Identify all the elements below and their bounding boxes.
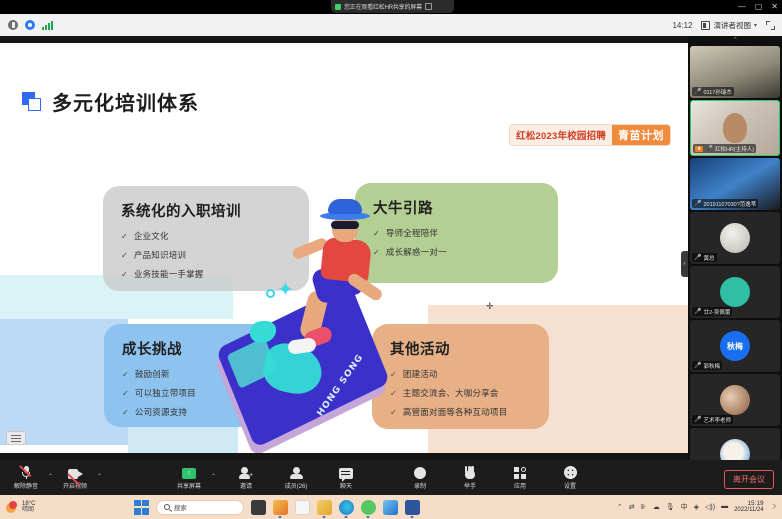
security-icon[interactable] <box>25 20 35 30</box>
participants-label: 成员(26) <box>285 481 308 490</box>
stop-share-icon[interactable] <box>425 3 432 10</box>
list-item-label: 鼓励创新 <box>135 368 170 380</box>
share-screen-icon <box>182 465 196 479</box>
participant-name-tag: 🎤 20191107030?范逸苇 <box>692 199 758 208</box>
list-item-label: 公司资源支持 <box>135 406 187 418</box>
page-title: 多元化培训体系 <box>52 87 199 116</box>
taskbar-center: 搜索 <box>134 500 420 515</box>
badge-program: 青苗计划 <box>612 125 670 145</box>
collapse-filmstrip-handle[interactable]: ‹ <box>681 251 688 277</box>
participant-name: 郭秋梅 <box>703 362 720 370</box>
chat-button[interactable]: 聊天 <box>326 465 366 490</box>
participant-name: 黄总 <box>703 254 714 262</box>
share-options-caret-icon[interactable]: ⌃ <box>211 473 216 490</box>
participant-tile[interactable]: 🎤 艺术李老师 <box>690 374 780 426</box>
windows-start-icon[interactable] <box>134 500 149 515</box>
maximize-button[interactable]: ▢ <box>755 3 763 11</box>
wechat-icon[interactable] <box>361 500 376 515</box>
taskview-icon[interactable] <box>251 500 266 515</box>
control-bar-center: 共享屏幕 ⌃ + 邀请 成员(26) 聊天 录制 <box>169 465 590 490</box>
participant-name-tag: 🎤 郭秋梅 <box>692 361 722 370</box>
card-activities-list: ✓团建活动 ✓主题交流会、大咖分享会 ✓高管面对面等各种互动项目 <box>390 368 531 418</box>
check-icon: ✓ <box>121 232 128 241</box>
circle-accent-icon <box>266 289 275 298</box>
chevron-down-icon: ▾ <box>754 22 757 29</box>
mic-muted-icon: 🎤 <box>694 88 701 95</box>
list-item: ✓团建活动 <box>390 368 531 380</box>
list-item-label: 可以独立带项目 <box>135 387 196 399</box>
apps-label: 应用 <box>514 481 526 490</box>
raise-hand-label: 举手 <box>464 481 476 490</box>
avatar-initials: 秋梅 <box>727 341 743 352</box>
chat-icon <box>339 465 353 479</box>
mic-muted-icon: 🎤 <box>694 362 701 369</box>
microsoft-store-icon[interactable] <box>273 500 288 515</box>
word-icon[interactable] <box>405 500 420 515</box>
mic-muted-icon: 🎤 <box>694 200 701 207</box>
mic-options-caret-icon[interactable]: ⌃ <box>48 473 53 490</box>
list-item: ✓高管面对面等各种互动项目 <box>390 406 531 418</box>
participant-name-tag: 🎤 黄总 <box>692 253 717 262</box>
edge-icon[interactable] <box>339 500 354 515</box>
list-item-label: 业务技能一手掌握 <box>134 268 204 280</box>
view-mode-selector[interactable]: 演讲者视图 ▾ <box>701 20 757 31</box>
raise-hand-icon <box>465 465 475 479</box>
record-label: 录制 <box>414 481 426 490</box>
volume-icon[interactable]: ◁)) <box>705 503 715 511</box>
mic-muted-icon: 🎤 <box>694 416 701 423</box>
participant-name: 红松HR(主持人) <box>715 145 754 153</box>
host-badge: ★ <box>695 146 703 152</box>
list-item: ✓主题交流会、大咖分享会 <box>390 387 531 399</box>
mute-button-label: 解除静音 <box>14 481 38 490</box>
participant-tile[interactable]: 🎤 廿2-吴佩蕾 <box>690 266 780 318</box>
minimize-button[interactable]: — <box>738 3 746 11</box>
participant-name: 0117孙瑞杰 <box>703 88 731 96</box>
settings-label: 设置 <box>564 481 576 490</box>
record-button[interactable]: 录制 <box>400 465 440 490</box>
participant-tile[interactable]: 🎤 116 ⌄ <box>690 428 780 460</box>
apps-icon <box>514 465 527 479</box>
invite-label: 邀请 <box>240 481 252 490</box>
presentation-slide: 多元化培训体系 红松2023年校园招聘 青苗计划 系统化的入职培训 ✓企业文化 … <box>0 43 688 453</box>
share-status-dot <box>335 4 341 10</box>
ime-chinese-icon[interactable]: 中 <box>681 502 688 512</box>
notepad-icon[interactable] <box>295 500 310 515</box>
participant-name-tag: ★ 🎤 红松HR(主持人) <box>693 144 756 153</box>
layout-icon <box>701 21 710 30</box>
meeting-elapsed-time: 14:12 <box>672 21 692 30</box>
share-screen-button[interactable]: 共享屏幕 <box>169 465 209 490</box>
record-icon <box>414 465 426 479</box>
squares-logo-icon <box>22 92 42 112</box>
fullscreen-icon[interactable] <box>766 21 775 30</box>
battery-icon[interactable]: ▬ <box>721 503 728 510</box>
meeting-control-bar: 解除静音 ⌃ 开启视频 ⌃ 共享屏幕 ⌃ + 邀请 <box>0 460 782 495</box>
screen-share-banner: 您正在观看红松HR共享的屏幕 <box>331 0 454 13</box>
window-controls: — ▢ ✕ <box>738 0 778 14</box>
participant-name: 艺术李老师 <box>703 416 731 424</box>
share-screen-label: 共享屏幕 <box>177 481 201 490</box>
search-placeholder: 搜索 <box>174 502 187 512</box>
list-item-label: 主题交流会、大咖分享会 <box>403 387 499 399</box>
view-mode-label: 演讲者视图 <box>713 20 751 31</box>
slide-notes-icon[interactable] <box>6 431 26 445</box>
control-bar-right: 离开会议 <box>724 469 782 487</box>
mic-muted-icon <box>22 465 30 479</box>
participants-button[interactable]: 成员(26) <box>276 465 316 490</box>
participant-name-tag: 🎤 0117孙瑞杰 <box>692 87 734 96</box>
participant-filmstrip[interactable]: ⌃ 🎤 0117孙瑞杰 ★ 🎤 红松HR(主持人) 🎤 20191107030?… <box>688 36 782 460</box>
surfer-character-icon <box>290 199 400 359</box>
participants-icon <box>290 465 303 479</box>
mic-muted-icon: 🎤 <box>694 308 701 315</box>
shield-icon[interactable] <box>8 20 18 30</box>
surfer-phone-illustration: HONG SONG ✦ <box>228 195 410 427</box>
check-icon: ✓ <box>122 370 129 379</box>
participant-name: 廿2-吴佩蕾 <box>703 308 730 316</box>
avatar <box>720 223 750 253</box>
invite-icon: + <box>239 465 253 479</box>
video-options-caret-icon[interactable]: ⌃ <box>97 473 102 490</box>
mute-button[interactable]: 解除静音 <box>6 465 46 490</box>
participant-name-tag: 🎤 廿2-吴佩蕾 <box>692 307 732 316</box>
windows-taskbar: 18°C 晴朗 搜索 ⌃ ⇄ ⊪ ☁ 🎙 中 ◈ <box>0 495 782 519</box>
invite-button[interactable]: + 邀请 <box>226 465 266 490</box>
check-icon: ✓ <box>121 270 128 279</box>
equalizer-icon[interactable]: ⇄ <box>629 503 635 511</box>
mic-icon[interactable]: 🎙 <box>666 503 675 511</box>
settings-gear-icon <box>564 465 577 479</box>
list-item-label: 产品知识培训 <box>134 249 186 261</box>
check-icon: ✓ <box>122 408 129 417</box>
topbar-right: 14:12 演讲者视图 ▾ <box>672 20 782 31</box>
mic-muted-icon: 🎤 <box>694 254 701 261</box>
meeting-top-bar: 14:12 演讲者视图 ▾ <box>0 14 782 36</box>
taskbar-clock[interactable]: 15:19 2022/11/24 <box>734 500 764 514</box>
list-item-label: 高管面对面等各种互动项目 <box>403 406 507 418</box>
check-icon: ✓ <box>121 251 128 260</box>
participant-name-tag: 🎤 艺术李老师 <box>692 415 733 424</box>
participant-name: 20191107030?范逸苇 <box>703 200 756 208</box>
avatar <box>723 113 747 143</box>
settings-button[interactable]: 设置 <box>550 465 590 490</box>
share-banner-text: 您正在观看红松HR共享的屏幕 <box>344 2 422 11</box>
mouse-cursor-icon: ✛ <box>486 301 494 312</box>
avatar: 秋梅 <box>720 331 750 361</box>
check-icon: ✓ <box>122 389 129 398</box>
search-icon <box>164 504 170 510</box>
list-item-label: 企业文化 <box>134 230 169 242</box>
card-activities-heading: 其他活动 <box>390 338 531 359</box>
network-signal-icon[interactable] <box>42 21 53 30</box>
avatar <box>720 439 750 460</box>
avatar <box>720 277 750 307</box>
wifi-icon[interactable]: ◈ <box>694 503 699 511</box>
participant-tile[interactable]: 秋梅 🎤 郭秋梅 <box>690 320 780 372</box>
video-button[interactable]: 开启视频 <box>55 465 95 490</box>
participant-tile[interactable]: 🎤 黄总 <box>690 212 780 264</box>
weather-text: 18°C 晴朗 <box>22 501 35 514</box>
participant-tile-active[interactable]: ★ 🎤 红松HR(主持人) <box>690 100 780 156</box>
clock-time: 15:19 <box>734 500 764 507</box>
system-tray: ⌃ ⇄ ⊪ ☁ 🎙 中 ◈ ◁)) ▬ 15:19 2022/11/24 ☽ <box>617 500 782 514</box>
filmstrip-scroll-up[interactable]: ⌃ <box>688 36 782 44</box>
topbar-left-icons <box>0 20 53 30</box>
file-explorer-icon[interactable] <box>317 500 332 515</box>
close-button[interactable]: ✕ <box>771 3 778 11</box>
photos-icon[interactable] <box>383 500 398 515</box>
weather-widget[interactable]: 18°C 晴朗 <box>0 501 35 514</box>
participant-tile[interactable]: 🎤 0117孙瑞杰 <box>690 46 780 98</box>
avatar <box>720 385 750 415</box>
apps-button[interactable]: 应用 <box>500 465 540 490</box>
notifications-icon[interactable]: ☽ <box>770 503 776 511</box>
control-bar-left: 解除静音 ⌃ 开启视频 ⌃ <box>0 465 102 490</box>
raise-hand-button[interactable]: 举手 <box>450 465 490 490</box>
illustration-brand-text: HONG SONG <box>315 353 365 419</box>
tray-expand-caret-icon[interactable]: ⌃ <box>617 503 623 511</box>
weather-description: 晴朗 <box>22 507 35 513</box>
onedrive-icon[interactable]: ☁ <box>653 503 660 511</box>
weather-icon <box>6 501 19 514</box>
mic-on-icon: 🎤 <box>705 145 712 152</box>
shared-screen-stage[interactable]: 多元化培训体系 红松2023年校园招聘 青苗计划 系统化的入职培训 ✓企业文化 … <box>0 36 688 460</box>
leave-meeting-button[interactable]: 离开会议 <box>724 470 774 489</box>
meeting-app-window: 您正在观看红松HR共享的屏幕 — ▢ ✕ 14:12 演讲者视图 ▾ <box>0 0 782 519</box>
slide-title-group: 多元化培训体系 <box>22 87 199 116</box>
campaign-badge-group: 红松2023年校园招聘 青苗计划 <box>510 125 670 145</box>
chart-icon[interactable]: ⊪ <box>641 503 647 511</box>
clock-date: 2022/11/24 <box>734 507 764 514</box>
camera-off-icon <box>68 465 83 479</box>
badge-recruitment: 红松2023年校园招聘 <box>510 125 612 145</box>
chat-label: 聊天 <box>340 481 352 490</box>
participant-tile[interactable]: 🎤 20191107030?范逸苇 <box>690 158 780 210</box>
search-input[interactable]: 搜索 <box>156 500 244 515</box>
